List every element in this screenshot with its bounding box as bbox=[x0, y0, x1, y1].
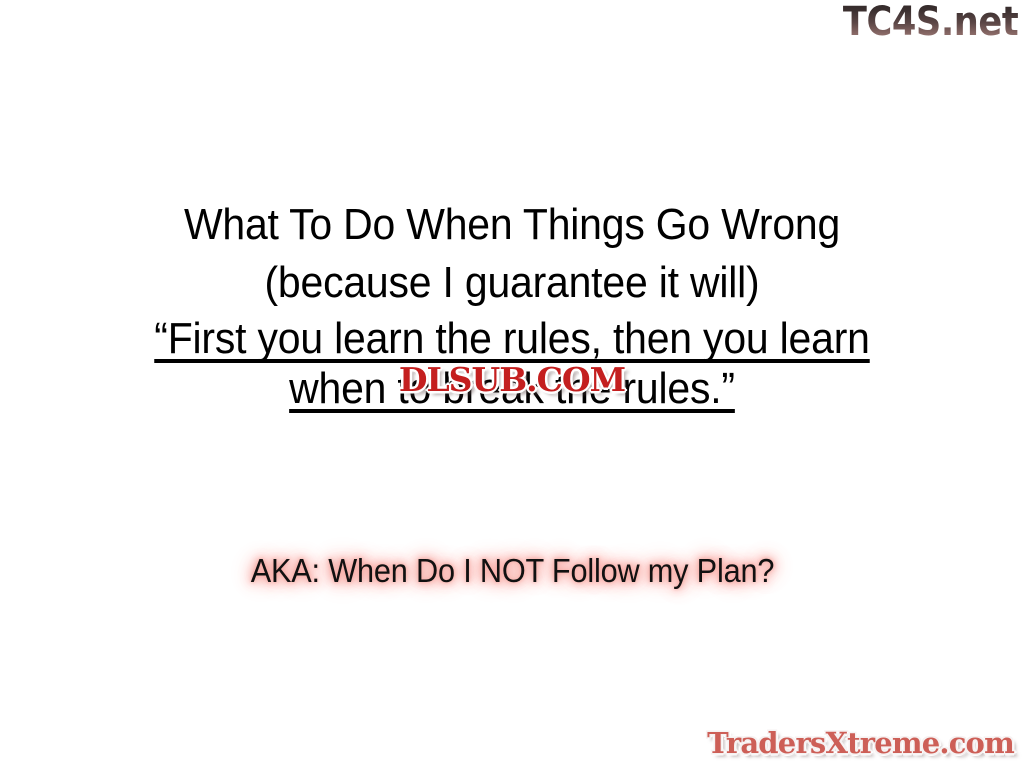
quote-line-1: “First you learn the rules, then you lea… bbox=[154, 314, 869, 363]
subtitle-text: AKA: When Do I NOT Follow my Plan? bbox=[250, 550, 774, 592]
subtitle-row: AKA: When Do I NOT Follow my Plan? bbox=[0, 550, 1024, 592]
page-title-line-1: What To Do When Things Go Wrong bbox=[36, 196, 988, 254]
tradersxtreme-watermark: TradersXtreme.com bbox=[707, 726, 1014, 760]
tc4s-watermark: TC4S.net bbox=[843, 0, 1018, 44]
quote-line-1-wrapper: “First you learn the rules, then you lea… bbox=[36, 314, 988, 364]
dlsub-watermark: DLSUB.COM bbox=[399, 363, 625, 396]
slide-canvas: TC4S.net What To Do When Things Go Wrong… bbox=[0, 0, 1024, 768]
page-title-line-2: (because I guarantee it will) bbox=[36, 254, 988, 312]
